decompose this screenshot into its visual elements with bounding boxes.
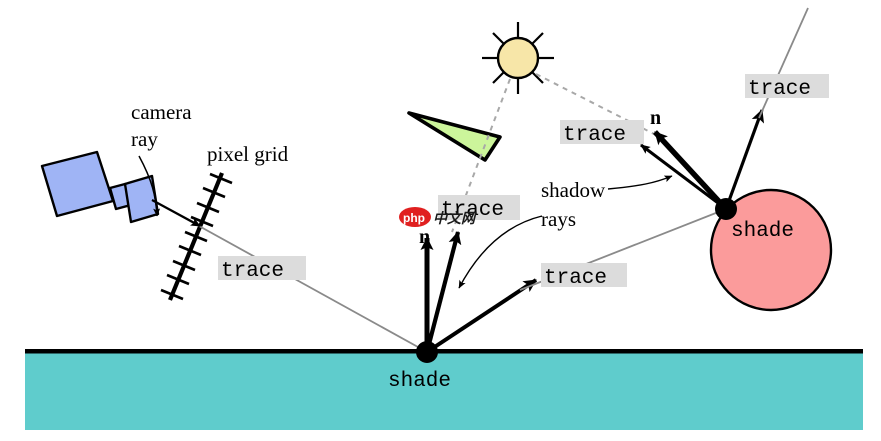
watermark: php 中文网 [399, 207, 477, 227]
watermark-logo-text: php [403, 211, 425, 225]
shadow-rays-label-line1: shadow [541, 178, 606, 202]
watermark-suffix-text: 中文网 [433, 210, 477, 226]
trace-label-top-right: trace [748, 78, 811, 101]
pixel-grid-label: pixel grid [207, 142, 289, 166]
trace-label-sphere: trace [563, 124, 626, 147]
diagram-text-layer: camera ray pixel grid trace trace trace … [0, 0, 881, 441]
shade-label-sphere: shade [731, 220, 794, 243]
trace-label-left: trace [221, 260, 284, 283]
camera-ray-label-line1: camera [131, 100, 192, 124]
normal-label-sphere: n [650, 107, 661, 129]
shadow-rays-label-line2: rays [541, 207, 576, 231]
ray-tracing-diagram: camera ray pixel grid trace trace trace … [0, 0, 881, 441]
normal-label-ground: n [419, 226, 430, 248]
trace-label-middle-right: trace [544, 267, 607, 290]
shade-label-ground: shade [388, 370, 451, 393]
camera-ray-label-line2: ray [131, 127, 158, 151]
